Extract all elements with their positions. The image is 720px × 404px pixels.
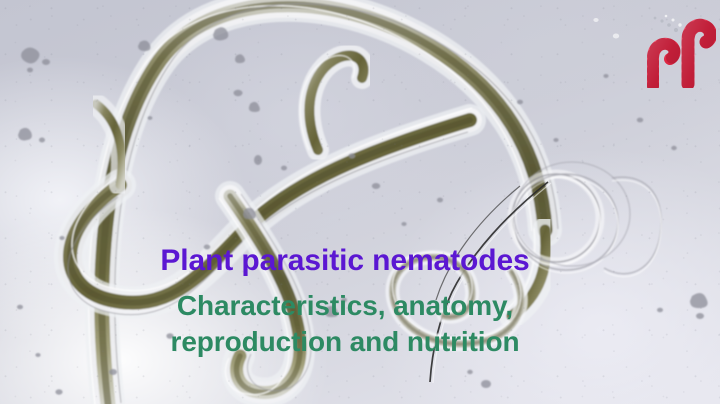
page-title: Plant parasitic nematodes [0,246,690,276]
video-thumbnail: Plant parasitic nematodes Characteristic… [0,0,720,404]
subtitle-line-2: reproduction and nutrition [0,328,690,356]
title-block: Plant parasitic nematodes Characteristic… [0,246,690,356]
page-subtitle: Characteristics, anatomy, reproduction a… [0,292,690,356]
subtitle-line-1: Characteristics, anatomy, [177,290,513,321]
worm-pair-logo [644,14,716,88]
